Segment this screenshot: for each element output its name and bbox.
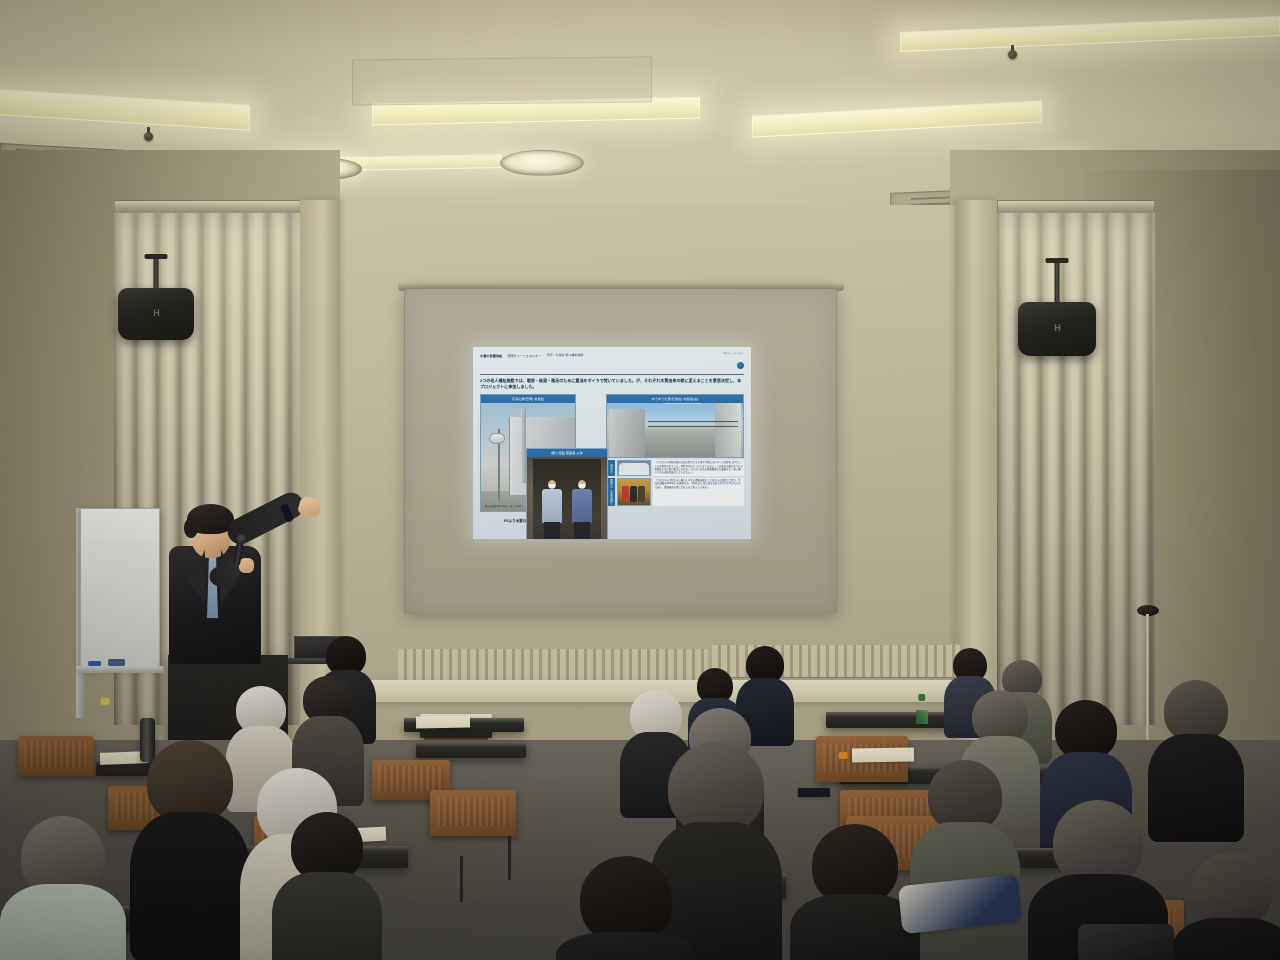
audience-member (556, 856, 696, 960)
group-figure (622, 486, 629, 502)
photo-note-left: 集水式装置 40m3/4日 〜ボイラ5tr/h (485, 506, 522, 509)
photo-building-left (609, 409, 645, 457)
audience-body (130, 812, 250, 960)
audience-head (580, 856, 672, 944)
slide-left-column: 花舟の郷(笠岡) 新施設 集水式装置 40m3/4日 〜ボイラ5tr/h 細川 … (480, 394, 602, 516)
speaker-logo-icon: H (153, 308, 159, 318)
presenter-mic-hand (239, 558, 254, 573)
blind-rail (997, 200, 1155, 213)
pa-speaker-right: H (1018, 302, 1096, 356)
slide-header: 木質の熱電併給 笠岡グリーンエネルギー 笠岡・石長谷 老人福祉施設 笠岡グリーン… (480, 353, 744, 375)
audience-member (0, 816, 126, 960)
audience-body (1172, 918, 1280, 960)
projected-slide: 木質の熱電併給 笠岡グリーンエネルギー 笠岡・石長谷 老人福祉施設 笠岡グリーン… (473, 347, 751, 539)
slide-title-main: 木質の熱電併給 (480, 353, 502, 358)
group-figure (630, 486, 637, 502)
audience-member (1172, 852, 1280, 960)
audience-head (1192, 852, 1272, 928)
slide-right-column: ゆうゆうの里(石長谷) 新施設(右) 集水式装置 40m3/4日 〜ボイラ5tr… (606, 394, 744, 516)
chair[interactable] (430, 790, 516, 836)
photo-power-line (648, 421, 738, 422)
person-legs (544, 522, 560, 539)
whiteboard-marker (88, 661, 101, 666)
audience-member (130, 740, 250, 950)
jp-logo-icon (737, 362, 744, 369)
ceiling-light-panel (0, 87, 250, 131)
slide-logo-text: 笠岡グリーンエネルギー (723, 353, 744, 355)
speaker-bracket (154, 254, 159, 288)
chair[interactable] (18, 736, 94, 776)
slide-body-text: 2つの老人福祉施設では、暖房・給湯・風呂のために重油をボイラで焚いていました。が… (480, 378, 744, 390)
photo-building-right (715, 403, 741, 457)
water-bottle[interactable] (836, 758, 850, 792)
ceiling-downlight (500, 150, 584, 176)
audience-head (668, 742, 764, 834)
projection-screen: 木質の熱電併給 笠岡グリーンエネルギー 笠岡・石長谷 老人福祉施設 笠岡グリーン… (404, 288, 837, 614)
audience-body (272, 872, 382, 960)
quote-block-1: 施設長 「これからの持続可能な社会の牽引になる再生可能エネルギーの比率を上げてい… (606, 460, 744, 475)
photo-facility-right: ゆうゆうの里(石長谷) 新施設(右) 集水式装置 40m3/4日 〜ボイラ5tr… (606, 394, 744, 458)
quote-text-2: 「これからの子供たちに暮らしやすい環境を残すことは大人の責任だと思う。今回の設備… (653, 478, 744, 506)
photo-caption-middle: 細川 施設 理事長 よ版 (527, 449, 607, 457)
handout-paper[interactable] (416, 716, 470, 729)
desk-edge (416, 742, 526, 746)
audience-body (0, 884, 126, 960)
audience-member (272, 812, 382, 960)
ceiling-light-panel (900, 16, 1280, 52)
slide-logo: 笠岡グリーンエネルギー (723, 353, 744, 373)
audience-body (556, 932, 696, 960)
bag (1078, 924, 1174, 960)
group-figure (638, 486, 645, 502)
ceiling-light-panel (372, 97, 700, 126)
quote-portrait-2 (617, 478, 651, 506)
photo-caption-right: ゆうゆうの里(石長谷) 新施設(右) (607, 395, 743, 403)
slide-title-sub: 笠岡・石長谷 老人福祉施設 (546, 353, 583, 357)
handout-paper[interactable] (852, 747, 914, 762)
photo-person-left (541, 480, 563, 539)
bottle-label (916, 710, 928, 724)
wall-grille (398, 648, 708, 684)
pa-speaker-left: H (118, 288, 194, 340)
photo-power-line (648, 426, 738, 427)
quote-portrait-1 (617, 460, 651, 475)
whiteboard-eraser (108, 659, 125, 666)
sprinkler-head-icon (1008, 50, 1017, 59)
vertical-blinds-right (997, 205, 1155, 725)
person-torso (572, 489, 592, 523)
bottle-cap (918, 694, 925, 701)
slide-title-org: 笠岡グリーンエネルギー (507, 353, 541, 358)
photo-two-men: 細川 施設 理事長 よ版 (526, 448, 608, 539)
person-legs (574, 522, 590, 539)
quote-text-1: 「これからの持続可能な社会の牽引になる再生可能エネルギーの比率を上げていくのが求… (653, 460, 744, 475)
smartphone[interactable] (798, 788, 830, 797)
chair-leg (460, 856, 463, 902)
quote-block-2: 理事長 笠本重明氏 「これからの子供たちに暮らしやすい環境を残すことは大人の責任… (606, 478, 744, 506)
audience-head (1055, 700, 1117, 760)
photo-alley (645, 429, 715, 457)
bottle-cap (839, 752, 848, 759)
desk-row-mid-left (416, 742, 526, 758)
blind-rail (114, 200, 304, 213)
slide-photo-columns: 花舟の郷(笠岡) 新施設 集水式装置 40m3/4日 〜ボイラ5tr/h 細川 … (480, 394, 744, 516)
water-bottle[interactable] (98, 704, 112, 742)
ceiling-panel-grid (352, 56, 652, 105)
whiteboard (74, 508, 162, 718)
portrait-body (619, 463, 649, 475)
sprinkler-head-icon (144, 132, 153, 141)
seminar-room-photo: H H 木質の熱電併給 笠岡グリーンエネルギー 笠岡・石長谷 老人福祉施設 笠岡… (0, 0, 1280, 960)
whiteboard-marker-tray (76, 666, 164, 673)
face-mask-icon (549, 484, 556, 488)
audience-head (1164, 680, 1228, 742)
whiteboard-panel (80, 508, 160, 668)
speaker-bracket (1055, 258, 1060, 302)
person-torso (542, 489, 562, 523)
photo-person-right (571, 480, 593, 539)
slide-footer-text: R3より木質の熱電併給・熱利用が開始。 (480, 519, 744, 524)
ceiling-light-panel (752, 100, 1042, 137)
chair-leg (508, 836, 511, 880)
speaker-logo-icon: H (1054, 323, 1060, 333)
water-bottle[interactable] (916, 700, 928, 730)
photo-caption-left: 花舟の郷(笠岡) 新施設 (481, 395, 575, 403)
face-mask-icon (579, 484, 586, 488)
bottle-cap (101, 698, 110, 705)
photo-dish (489, 433, 505, 444)
